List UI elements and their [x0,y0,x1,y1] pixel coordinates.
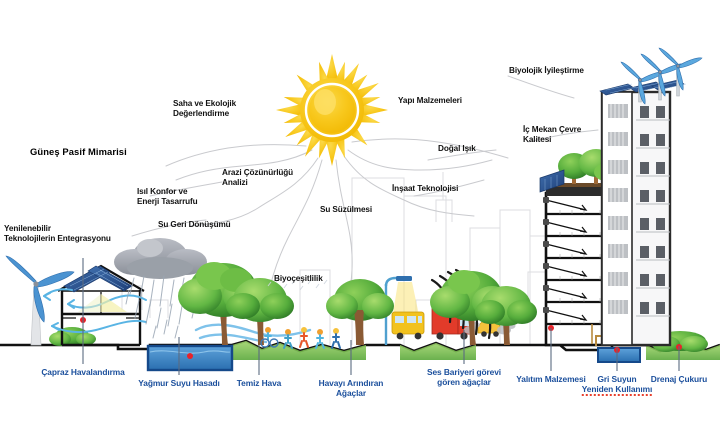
label-ses-bariyeri-goren-agaclar: Ses Bariyeri görevi gören ağaçlar [427,368,501,388]
label-yenilenebilir-teknolojilerin-entegrasyonu: Yenilenebilir Teknolojilerin Entegrasyon… [4,224,111,243]
label-capraz-havalandirma: Çapraz Havalandırma [41,368,124,378]
hotspot-marker [187,353,193,359]
label-dogal-isik: Doğal Işık [438,144,476,154]
label-isil-konfor-ve-enerji-tasarrufu: Isıl Konfor ve Enerji Tasarrufu [137,187,198,206]
label-gri-suyun-yeniden-kullanimi-line1: Gri Suyun [597,374,636,384]
label-su-suzulmesi: Su Süzülmesi [320,205,372,215]
label-su-geri-donusumu: Su Geri Dönüşümü [158,220,231,230]
label-arazi-cozunurlugu-analizi: Arazi Çözünürlüğü Analizi [222,168,293,187]
infographic-canvas: Güneş Pasif MimarisiSaha ve Ekolojik Değ… [0,0,720,427]
label-biyocesitlilik: Biyoçeşitlilik [274,274,323,284]
label-gunes-pasif-mimarisi: Güneş Pasif Mimarisi [30,146,127,157]
label-gri-suyun-yeniden-kullanimi-line2: Yeniden Kullanımı [582,384,652,396]
label-ic-mekan-cevre-kalitesi: İç Mekan Çevre Kalitesi [523,125,581,144]
label-drenaj-cukuru: Drenaj Çukuru [651,375,707,385]
label-insaat-teknolojisi: İnşaat Teknolojisi [392,184,458,194]
label-havayi-arindiran-agaclar: Havayı Arındıran Ağaçlar [319,379,384,399]
label-yapi-malzemeleri: Yapı Malzemeleri [398,96,462,106]
label-yalitim-malzemesi: Yalıtım Malzemesi [516,375,586,385]
label-biyolojik-iyilestirme: Biyolojik İyileştirme [509,66,584,76]
label-gri-suyun-yeniden-kullanimi: Gri SuyunYeniden Kullanımı [582,375,652,395]
rainwater-cistern [148,346,232,370]
greywater-tank [598,347,640,362]
label-yagmur-suyu-hasadi: Yağmur Suyu Hasadı [138,379,220,389]
label-saha-ve-ekolojik-degerlendirme: Saha ve Ekolojik Değerlendirme [173,99,236,118]
label-temiz-hava: Temiz Hava [237,379,281,389]
